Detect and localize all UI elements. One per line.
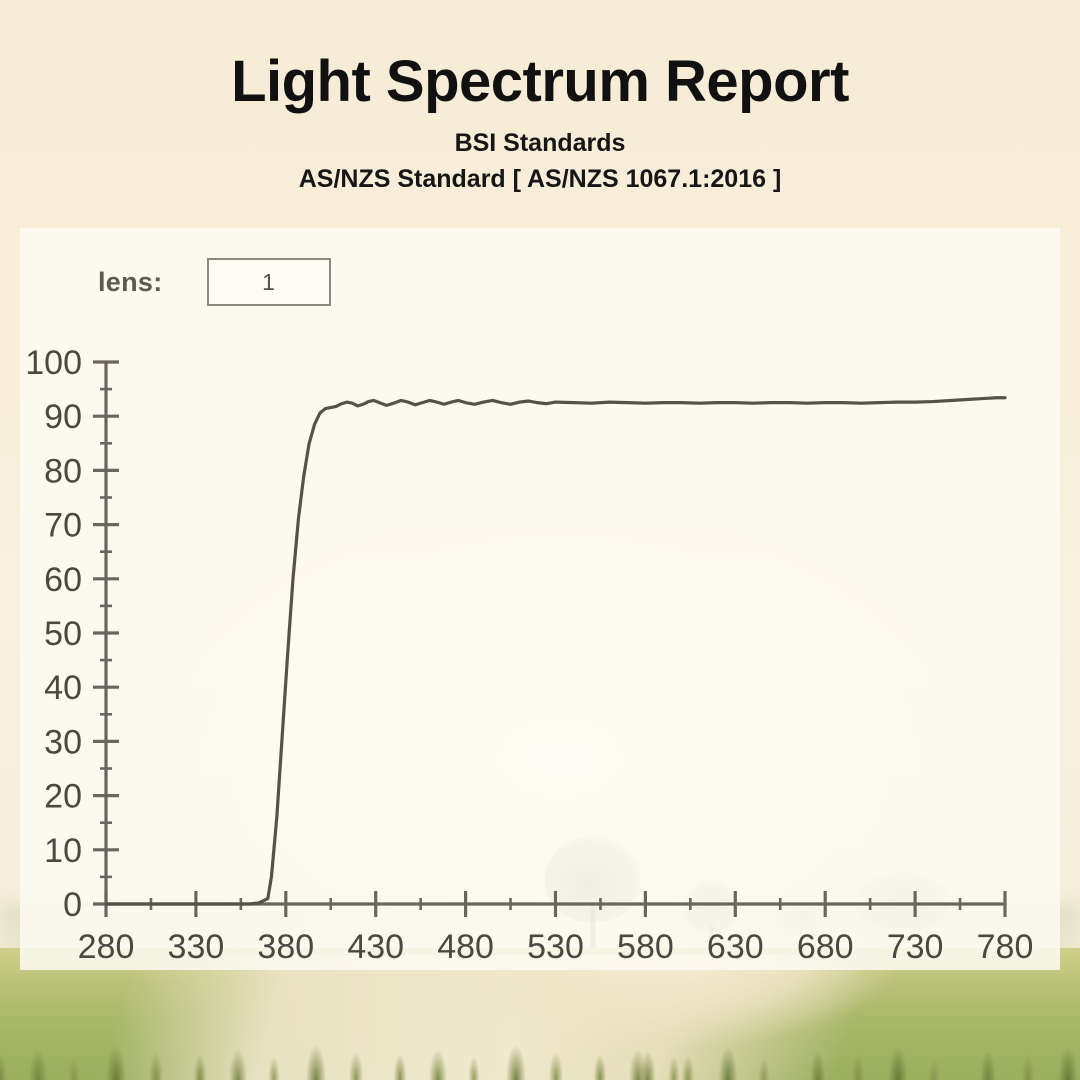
subtitle-standard-reference: AS/NZS Standard [ AS/NZS 1067.1:2016 ] — [0, 165, 1080, 194]
roadside-scrub-left — [0, 960, 690, 1080]
report-header: Light Spectrum Report BSI Standards AS/N… — [0, 0, 1080, 194]
chart-series — [106, 398, 1005, 904]
roadside-scrub-right — [630, 960, 1080, 1080]
svg-text:330: 330 — [168, 928, 225, 966]
svg-text:780: 780 — [977, 928, 1034, 966]
subtitle-standards-body: BSI Standards — [0, 129, 1080, 158]
svg-text:90: 90 — [44, 398, 82, 436]
svg-text:70: 70 — [44, 507, 82, 545]
chart-axes — [93, 362, 1005, 917]
page-title: Light Spectrum Report — [0, 52, 1080, 113]
svg-text:580: 580 — [617, 928, 674, 966]
svg-text:0: 0 — [63, 886, 82, 924]
svg-text:30: 30 — [44, 723, 82, 761]
svg-text:50: 50 — [44, 615, 82, 653]
svg-text:680: 680 — [797, 928, 854, 966]
chart-tick-labels: 2803303804304805305806306807307800102030… — [25, 344, 1033, 966]
chart-panel: lens: 1 28033038043048053058063068073078… — [20, 228, 1060, 970]
svg-text:380: 380 — [257, 928, 314, 966]
svg-text:480: 480 — [437, 928, 494, 966]
svg-text:430: 430 — [347, 928, 404, 966]
svg-text:530: 530 — [527, 928, 584, 966]
svg-text:60: 60 — [44, 561, 82, 599]
svg-text:40: 40 — [44, 669, 82, 707]
svg-text:630: 630 — [707, 928, 764, 966]
svg-text:10: 10 — [44, 832, 82, 870]
svg-text:100: 100 — [25, 344, 82, 382]
svg-text:280: 280 — [78, 928, 135, 966]
svg-text:20: 20 — [44, 778, 82, 816]
svg-text:80: 80 — [44, 452, 82, 490]
spectrum-chart: 2803303804304805305806306807307800102030… — [20, 228, 1060, 970]
svg-text:730: 730 — [887, 928, 944, 966]
